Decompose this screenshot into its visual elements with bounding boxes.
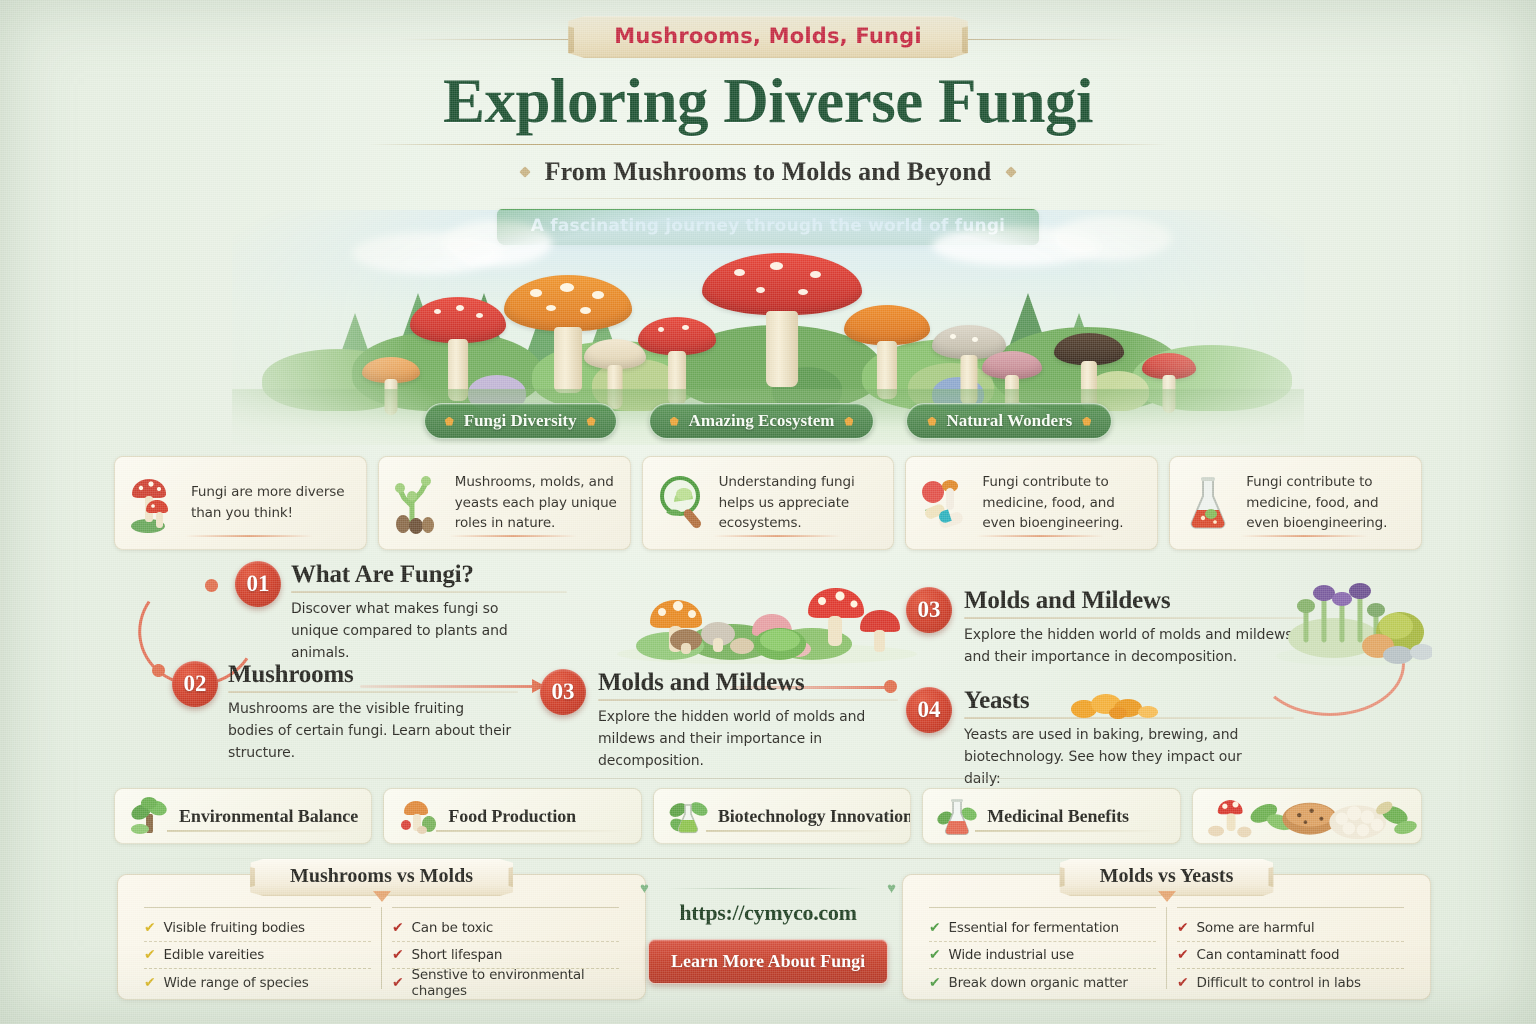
step-description: Explore the hidden world of molds and mi…: [598, 706, 898, 772]
compare-item-label: Some are harmful: [1197, 920, 1315, 936]
benefit-pill-image-only[interactable]: [1192, 788, 1422, 844]
compare-item-label: Visible fruiting bodies: [164, 920, 305, 936]
step-title: Mushrooms: [228, 661, 522, 689]
benefit-pill[interactable]: Biotechnology Innovation: [653, 788, 911, 844]
check-icon: ✔: [392, 948, 404, 962]
fact-card[interactable]: Fungi are more diverse than you think!: [114, 456, 367, 550]
compare-item-label: Break down organic matter: [949, 975, 1128, 991]
sapling-icon: [129, 796, 169, 836]
banner-notch-icon: [373, 891, 391, 902]
compare-list-item: ✔ Can contaminatt food: [1177, 942, 1404, 969]
hero-chip-label: Natural Wonders: [946, 411, 1072, 431]
fact-text: Fungi are more diverse than you think!: [191, 482, 355, 523]
benefit-pill[interactable]: Medicinal Benefits: [922, 788, 1180, 844]
compare-column-right: ✔ Can be toxic ✔ Short lifespan ✔ Sensti…: [381, 907, 629, 989]
compare-list-item: ✔ Some are harmful: [1177, 915, 1404, 942]
step-item-04[interactable]: 04 Yeasts Yeasts are used in baking, bre…: [906, 687, 1306, 790]
step-number: 01: [247, 571, 270, 597]
benefit-pill-row: Environmental Balance Food Production: [114, 788, 1422, 844]
compare-list-item: ✔ Visible fruiting bodies: [144, 915, 371, 942]
compare-item-label: Difficult to control in labs: [1197, 975, 1361, 991]
step-badge: 02: [172, 661, 218, 707]
pentagon-icon: [587, 417, 596, 426]
connector-dot: [205, 579, 218, 592]
connector-dot: [152, 664, 165, 677]
check-icon: ✔: [929, 948, 941, 962]
step-badge: 01: [235, 561, 281, 607]
molds-illustration: [1272, 560, 1432, 668]
check-icon: ✔: [1177, 948, 1189, 962]
hero-chip-fungi-diversity[interactable]: Fungi Diversity: [424, 403, 617, 439]
step-badge: 04: [906, 687, 952, 733]
benefit-pill-label: Biotechnology Innovation: [718, 806, 911, 827]
hero-chip-label: Amazing Ecosystem: [689, 411, 835, 431]
hero-chip-label: Fungi Diversity: [464, 411, 577, 431]
hero-chip-amazing-ecosystem[interactable]: Amazing Ecosystem: [649, 403, 875, 439]
compare-column-right: ✔ Some are harmful ✔ Can contaminatt foo…: [1166, 907, 1414, 989]
step-number: 04: [918, 697, 941, 723]
leaf-flask-icon: [668, 796, 708, 836]
cta-block: ♥ ♥ https://cymyco.com Learn More About …: [648, 884, 888, 984]
page-subtitle: From Mushrooms to Molds and Beyond: [545, 157, 992, 187]
flask-icon: [1181, 472, 1237, 534]
hero-chip-strip: Fungi Diversity Amazing Ecosystem Natura…: [232, 398, 1304, 444]
compare-list-item: ✔ Can be toxic: [392, 915, 619, 942]
step-item-01[interactable]: 01 What Are Fungi? Discover what makes f…: [235, 561, 525, 664]
pentagon-icon: [670, 417, 679, 426]
check-icon: ✔: [392, 976, 404, 990]
compare-item-label: Wide industrial use: [949, 947, 1074, 963]
compare-list-item: ✔ Difficult to control in labs: [1177, 969, 1404, 996]
check-icon: ✔: [929, 921, 941, 935]
benefit-pill-label: Medicinal Benefits: [987, 806, 1129, 827]
step-description: Discover what makes fungi so unique comp…: [291, 598, 541, 664]
flask-icon: [937, 796, 977, 836]
page-title: Exploring Diverse Fungi: [0, 68, 1536, 134]
step-description: Yeasts are used in baking, brewing, and …: [964, 724, 1274, 790]
step-number: 03: [552, 679, 575, 705]
compare-item-label: Can contaminatt food: [1197, 947, 1340, 963]
benefit-pill[interactable]: Environmental Balance: [114, 788, 372, 844]
step-description: Mushrooms are the visible fruiting bodie…: [228, 698, 513, 764]
pentagon-icon: [445, 417, 454, 426]
pills-divider-top: [114, 778, 1422, 779]
poster-header: Mushrooms, Molds, Fungi Exploring Divers…: [0, 0, 1536, 224]
check-icon: ✔: [1177, 976, 1189, 990]
fact-card[interactable]: Fungi contribute to medicine, food, and …: [1169, 456, 1422, 550]
step-title: Molds and Mildews: [964, 587, 1306, 615]
pill-underline: [167, 830, 357, 832]
compare-list-item: ✔ Break down organic matter: [929, 969, 1156, 996]
kicker-ribbon-wrap: Mushrooms, Molds, Fungi: [0, 16, 1536, 62]
title-divider: [368, 144, 1168, 145]
compare-list-item: ✔ Edible vareities: [144, 942, 371, 969]
learn-more-button[interactable]: Learn More About Fungi: [648, 939, 888, 984]
pentagon-icon: [844, 417, 853, 426]
subtitle-row: From Mushrooms to Molds and Beyond: [0, 157, 1536, 187]
magnifier-icon: [654, 472, 710, 534]
compare-panel-mushrooms-vs-molds: Mushrooms vs Molds ✔ Visible fruiting bo…: [117, 874, 646, 1000]
check-icon: ✔: [144, 948, 156, 962]
compare-column-left: ✔ Essential for fermentation ✔ Wide indu…: [919, 907, 1166, 989]
yeast-cluster-icon: [1066, 693, 1176, 719]
subtitle-divider: [488, 198, 1048, 199]
check-icon: ✔: [392, 921, 404, 935]
heart-icon: ♥: [640, 880, 649, 897]
compare-list-item: ✔ Essential for fermentation: [929, 915, 1156, 942]
compare-list-item: ✔ Wide range of species: [144, 969, 371, 996]
check-icon: ✔: [144, 976, 156, 990]
pill-underline: [436, 830, 626, 832]
step-item-03-center[interactable]: 03 Molds and Mildews Explore the hidden …: [540, 669, 900, 772]
fact-text: Understanding fungi helps us appreciate …: [719, 472, 883, 534]
pentagon-icon: [1082, 417, 1091, 426]
fact-underline: [1240, 535, 1368, 537]
kicker-rule-left: [398, 39, 598, 40]
pill-underline: [975, 830, 1165, 832]
benefit-pill-label: Food Production: [448, 806, 576, 827]
kicker-ribbon: Mushrooms, Molds, Fungi: [568, 16, 968, 58]
banner-notch-icon: [1158, 891, 1176, 902]
step-badge: 03: [540, 669, 586, 715]
diamond-icon: [1006, 166, 1017, 177]
compare-item-label: Edible vareities: [164, 947, 265, 963]
step-item-02[interactable]: 02 Mushrooms Mushrooms are the visible f…: [172, 661, 522, 764]
check-icon: ✔: [1177, 921, 1189, 935]
step-number: 02: [184, 671, 207, 697]
fact-underline: [713, 535, 841, 537]
cta-divider: [666, 888, 870, 889]
fact-card[interactable]: Mushrooms, molds, and yeasts each play u…: [378, 456, 631, 550]
fact-underline: [185, 535, 313, 537]
pill-underline: [706, 830, 896, 832]
compare-divider-top: [114, 858, 1422, 859]
infographic-poster: Mushrooms, Molds, Fungi Exploring Divers…: [0, 0, 1536, 1024]
fact-text: Mushrooms, molds, and yeasts each play u…: [455, 472, 619, 534]
pentagon-icon: [927, 417, 936, 426]
compare-list-item: ✔ Wide industrial use: [929, 942, 1156, 969]
check-icon: ✔: [929, 976, 941, 990]
step-title: Molds and Mildews: [598, 669, 900, 697]
compare-panel-molds-vs-yeasts: Molds vs Yeasts ✔ Essential for fermenta…: [902, 874, 1431, 1000]
fact-card[interactable]: Understanding fungi helps us appreciate …: [642, 456, 895, 550]
benefit-pill[interactable]: Food Production: [383, 788, 641, 844]
compare-item-label: Short lifespan: [412, 947, 503, 963]
compare-item-label: Senstive to environmental changes: [412, 967, 619, 999]
check-icon: ✔: [144, 921, 156, 935]
heart-icon: ♥: [887, 880, 896, 897]
compare-list-item: ✔ Short lifespan: [392, 942, 619, 969]
cta-url[interactable]: https://cymyco.com: [648, 900, 888, 926]
fact-text: Fungi contribute to medicine, food, and …: [982, 472, 1146, 534]
compare-column-left: ✔ Visible fruiting bodies ✔ Edible varei…: [134, 907, 381, 989]
step-item-03-right[interactable]: 03 Molds and Mildews Explore the hidden …: [906, 587, 1306, 668]
fact-card-row: Fungi are more diverse than you think! M…: [114, 456, 1422, 550]
fact-card[interactable]: Fungi contribute to medicine, food, and …: [905, 456, 1158, 550]
mushroom-icon: [126, 472, 182, 534]
coral-fungus-icon: [390, 472, 446, 534]
step-description: Explore the hidden world of molds and mi…: [964, 624, 1294, 668]
diamond-icon: [519, 166, 530, 177]
fact-underline: [976, 535, 1104, 537]
food-fungi-icon: [1193, 789, 1421, 843]
compare-item-label: Essential for fermentation: [949, 920, 1119, 936]
steps-center-illustration: [612, 556, 922, 664]
kicker-rule-right: [938, 39, 1138, 40]
fact-underline: [449, 535, 577, 537]
hero-chip-natural-wonders[interactable]: Natural Wonders: [906, 403, 1112, 439]
compare-item-label: Can be toxic: [412, 920, 494, 936]
fact-text: Fungi contribute to medicine, food, and …: [1246, 472, 1410, 534]
compare-list-item: ✔ Senstive to environmental changes: [392, 969, 619, 996]
mushroom-icon: [398, 796, 438, 836]
step-title: What Are Fungi?: [291, 561, 525, 589]
compare-item-label: Wide range of species: [164, 975, 309, 991]
benefit-pill-label: Environmental Balance: [179, 806, 358, 827]
pills-icon: [917, 472, 973, 534]
